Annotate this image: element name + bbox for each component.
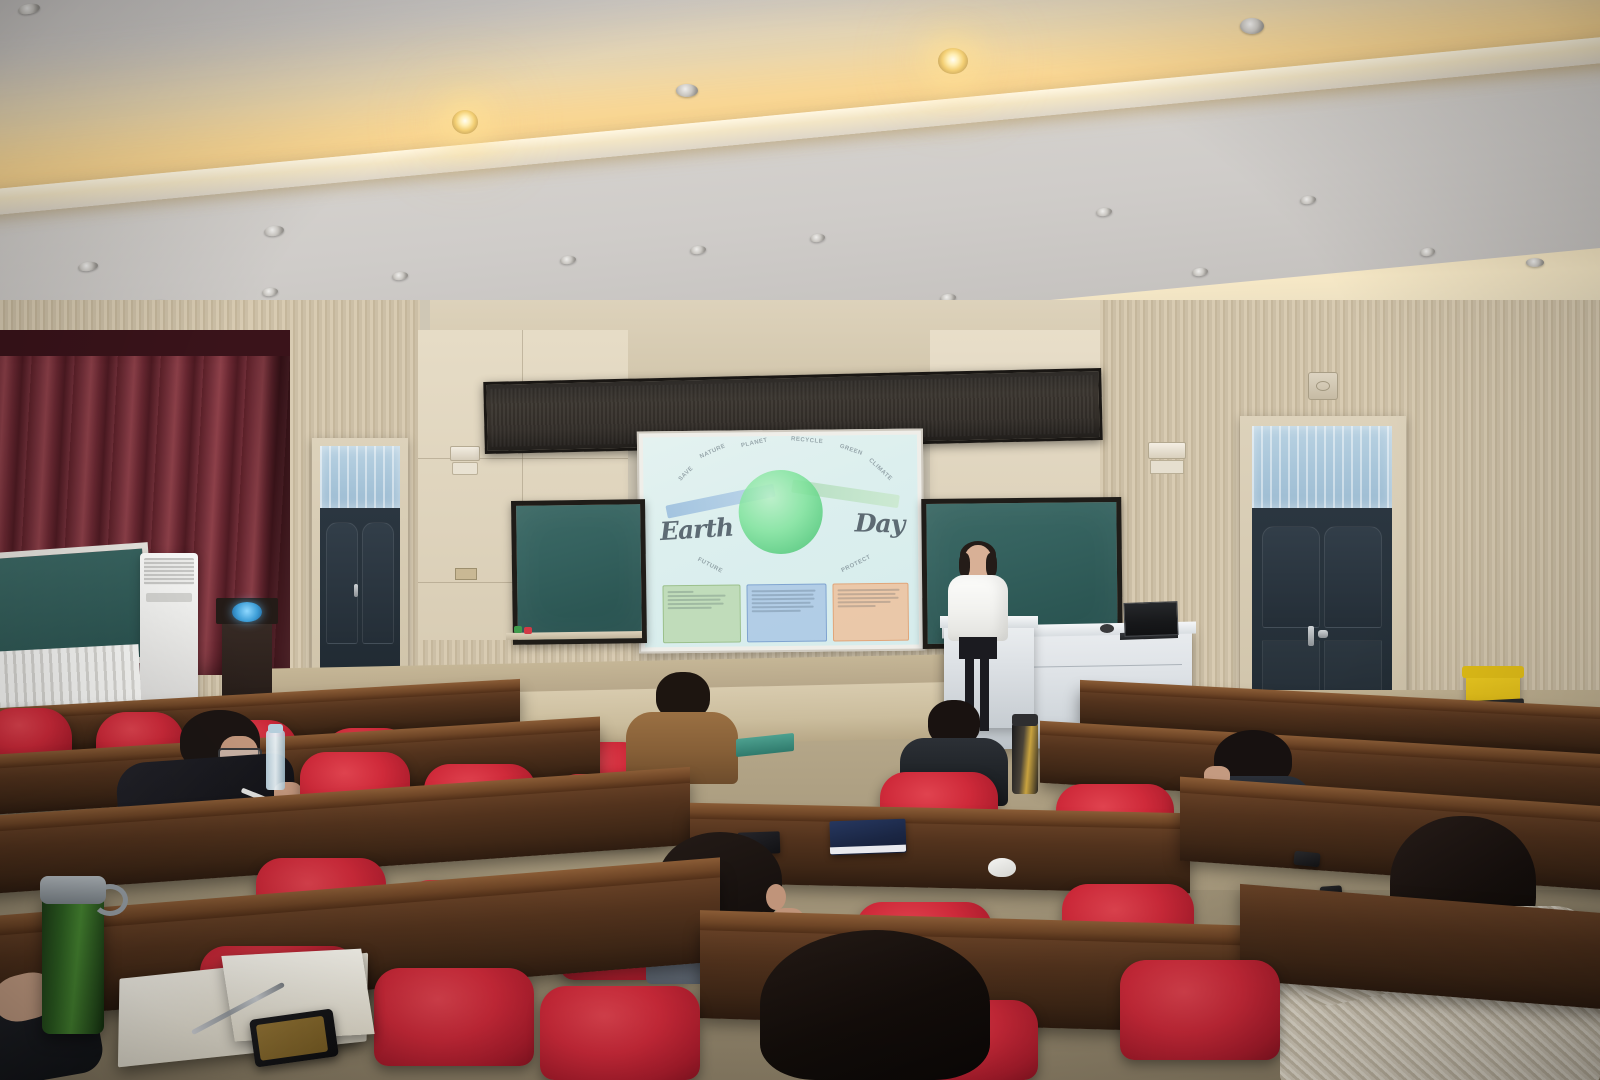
waste-bin-lid (1462, 666, 1524, 678)
downlight-lit-icon (938, 48, 968, 74)
attendee-brown-blazer (626, 672, 738, 782)
attendee-ear (766, 884, 786, 910)
projection-screen: NATURE PLANET RECYCLE GREEN SAVE CLIMATE… (637, 429, 925, 654)
door-handle-right (1308, 626, 1314, 646)
slide-arc-word: GREEN (839, 443, 863, 457)
slide-content-box-orange (832, 583, 909, 642)
wall-speaker-grille (1316, 381, 1330, 391)
wall-switch-plate-right[interactable] (1148, 442, 1186, 459)
slide-arc-word: RECYCLE (791, 436, 824, 445)
seat[interactable] (1120, 960, 1280, 1060)
curtain-rail (0, 330, 290, 356)
chalk-box-green (514, 626, 522, 633)
door-transom-right (1252, 426, 1392, 508)
presenter-blouse (948, 575, 1008, 641)
air-conditioner-unit (140, 553, 198, 708)
thermos-cap (1012, 714, 1038, 726)
attendee-bottom-center (760, 930, 990, 1080)
air-conditioner-vent (146, 593, 192, 602)
thermos-green-foreground (42, 892, 104, 1034)
radiator (0, 644, 141, 710)
lecture-hall-photo: NATURE PLANET RECYCLE GREEN SAVE CLIMATE… (0, 0, 1600, 1080)
slide-title-earth: Earth (659, 513, 734, 547)
thermos-cap (40, 876, 106, 904)
chalk-box-red (524, 627, 532, 634)
slide-arc-word: FUTURE (696, 557, 723, 575)
slide-arc-word: CLIMATE (867, 458, 893, 483)
wall-outlet-plate[interactable] (455, 568, 477, 580)
light-switch-plate[interactable] (450, 446, 480, 461)
slide-content-box-green (662, 584, 741, 643)
slide-title-day: Day (854, 508, 904, 538)
presenter-skirt (959, 637, 997, 659)
wall-outlet-plate-right[interactable] (1150, 460, 1184, 474)
downlight-icon (1240, 18, 1264, 34)
downlight-icon (676, 84, 698, 97)
slide-content-box-blue (746, 584, 827, 643)
door-transom-left (320, 446, 400, 508)
seat[interactable] (374, 968, 534, 1066)
door-handle-right-2 (1318, 630, 1328, 638)
slide-arc-word: PLANET (741, 437, 769, 449)
presenter-hair-side-left (959, 553, 970, 577)
door-handle-left (354, 584, 358, 597)
attendee-hair (760, 930, 990, 1080)
mouse-white[interactable] (1100, 624, 1114, 633)
wall-outlet-plate[interactable] (452, 462, 478, 475)
seat[interactable] (540, 986, 700, 1080)
air-conditioner-grille (144, 558, 194, 585)
globe-icon (738, 470, 823, 555)
presenter-hair-side-right (986, 553, 997, 577)
water-bottle-cap (268, 724, 283, 733)
podium-emblem-icon (232, 602, 262, 622)
slide-arc-word: NATURE (699, 443, 727, 460)
water-bottle-clear (266, 730, 285, 790)
slide-arc-word: SAVE (678, 466, 695, 483)
downlight-icon (1526, 258, 1544, 267)
earth-day-slide: NATURE PLANET RECYCLE GREEN SAVE CLIMATE… (643, 435, 919, 648)
thermos-black-gold (1012, 722, 1038, 794)
chalkboard-left (511, 499, 647, 645)
slide-arc-word: PROTECT (841, 554, 872, 574)
laptop-screen[interactable] (1123, 601, 1178, 637)
downlight-lit-icon (452, 110, 478, 134)
mouse-white[interactable] (988, 858, 1016, 877)
